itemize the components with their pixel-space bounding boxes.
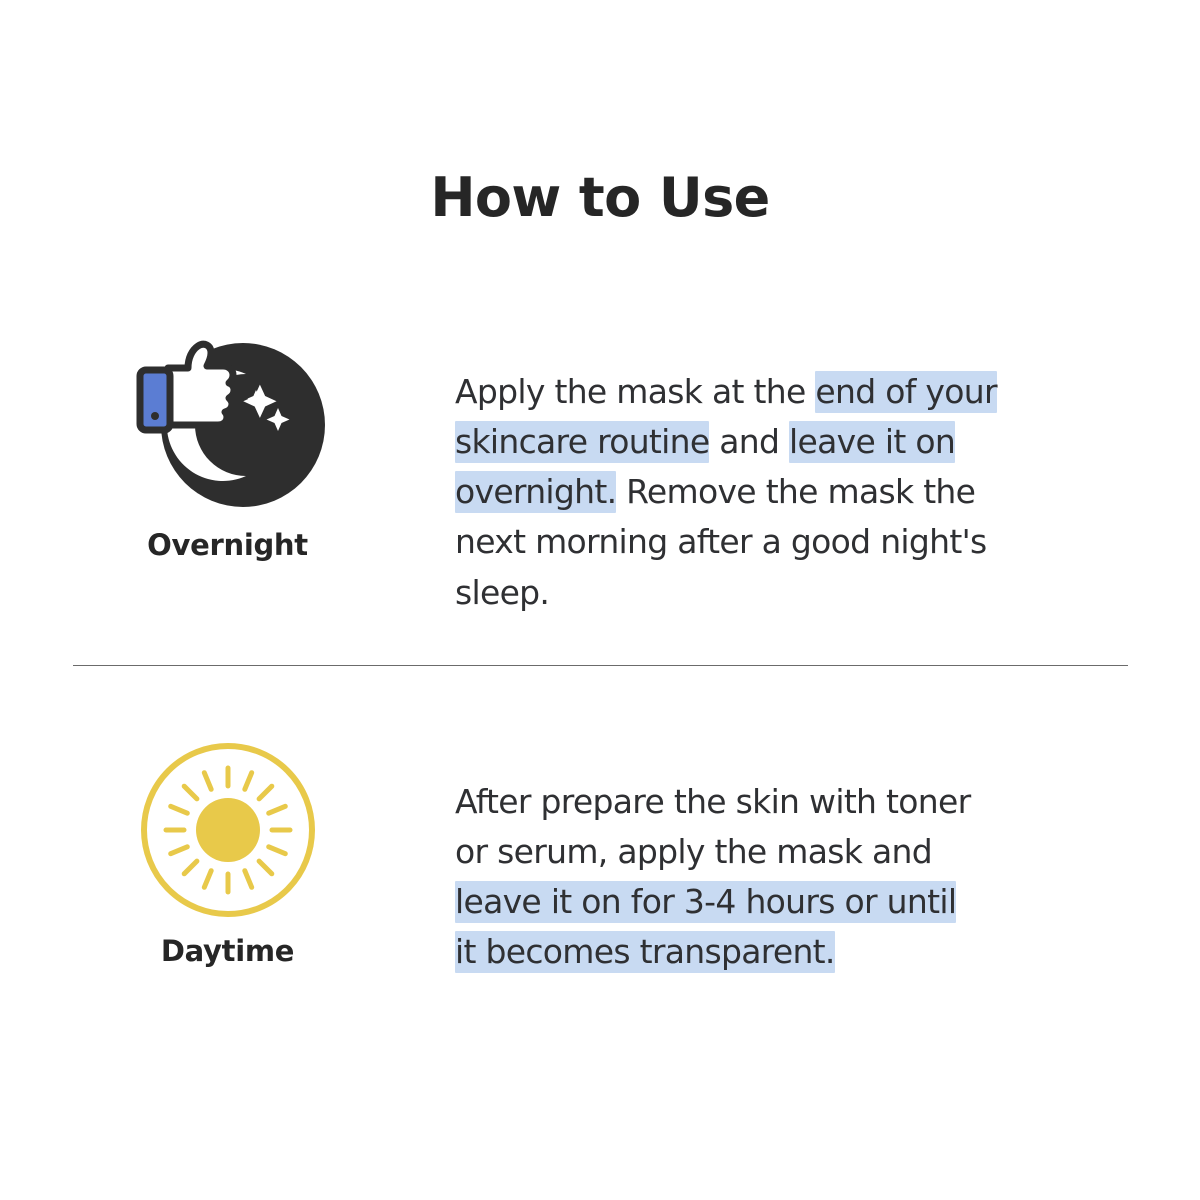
daytime-paragraph: After prepare the skin with toner or ser… [455,777,980,978]
daytime-icon-column: Daytime [0,740,455,968]
highlight-phrase: leave it on for 3-4 hours or until it be… [455,881,956,973]
overnight-label: Overnight [147,528,308,562]
daytime-text-column: After prepare the skin with toner or ser… [455,740,1200,1011]
overnight-icon-column: Overnight [0,330,455,562]
overnight-text-column: Apply the mask at the end of your skinca… [455,330,1200,651]
how-to-use-page: How to Use [0,0,1200,1200]
plain-phrase: After prepare the skin with toner or ser… [455,782,970,871]
page-title: How to Use [0,168,1200,227]
overnight-paragraph: Apply the mask at the end of your skinca… [455,367,1035,618]
plain-phrase: and [709,422,789,461]
section-divider [73,665,1128,666]
plain-phrase: Apply the mask at the [455,372,815,411]
moon-stars-thumbsup-icon [128,330,328,510]
daytime-label: Daytime [161,934,294,968]
section-overnight: Overnight Apply the mask at the end of y… [0,330,1200,651]
sun-circle-icon [128,740,328,920]
section-daytime: Daytime After prepare the skin with tone… [0,740,1200,1011]
